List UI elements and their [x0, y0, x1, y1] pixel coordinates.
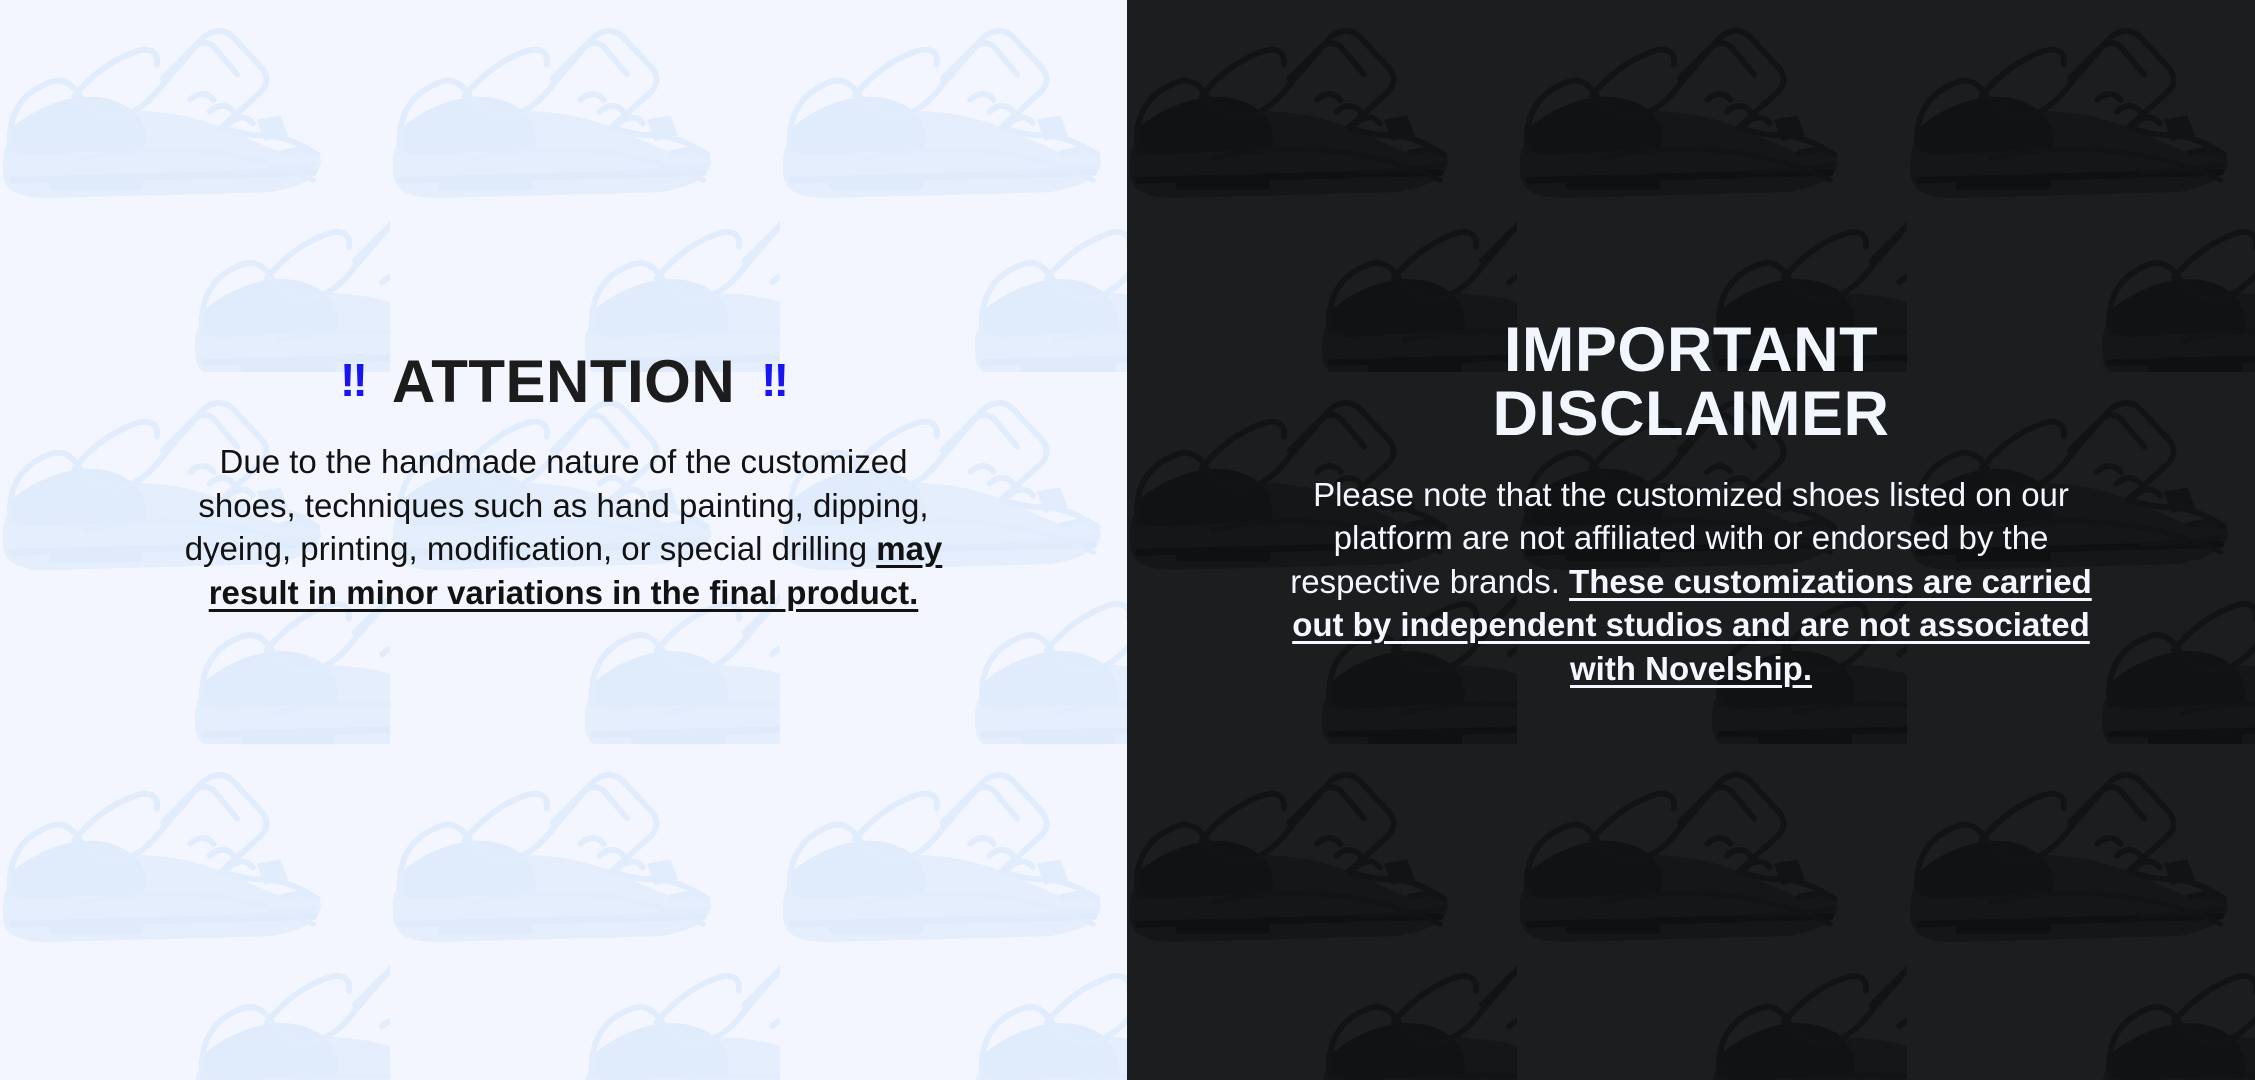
double-exclamation-icon-left: ‼ — [340, 357, 366, 403]
disclaimer-banner: ‼ ATTENTION ‼ Due to the handmade nature… — [0, 0, 2255, 1080]
disclaimer-content: IMPORTANT DISCLAIMER Please note that th… — [1276, 318, 2106, 690]
double-exclamation-icon-right: ‼ — [761, 357, 787, 403]
attention-body: Due to the handmade nature of the custom… — [159, 440, 969, 614]
disclaimer-panel: IMPORTANT DISCLAIMER Please note that th… — [1127, 0, 2255, 1080]
attention-heading: ‼ ATTENTION ‼ — [159, 352, 969, 412]
disclaimer-body: Please note that the customized shoes li… — [1276, 473, 2106, 691]
disclaimer-heading: IMPORTANT DISCLAIMER — [1276, 318, 2106, 447]
attention-content: ‼ ATTENTION ‼ Due to the handmade nature… — [159, 352, 969, 614]
attention-panel: ‼ ATTENTION ‼ Due to the handmade nature… — [0, 0, 1127, 1080]
attention-heading-text: ATTENTION — [392, 352, 735, 412]
disclaimer-heading-line1: IMPORTANT — [1504, 315, 1878, 385]
disclaimer-heading-line2: DISCLAIMER — [1493, 379, 1890, 449]
attention-body-plain: Due to the handmade nature of the custom… — [185, 443, 929, 567]
